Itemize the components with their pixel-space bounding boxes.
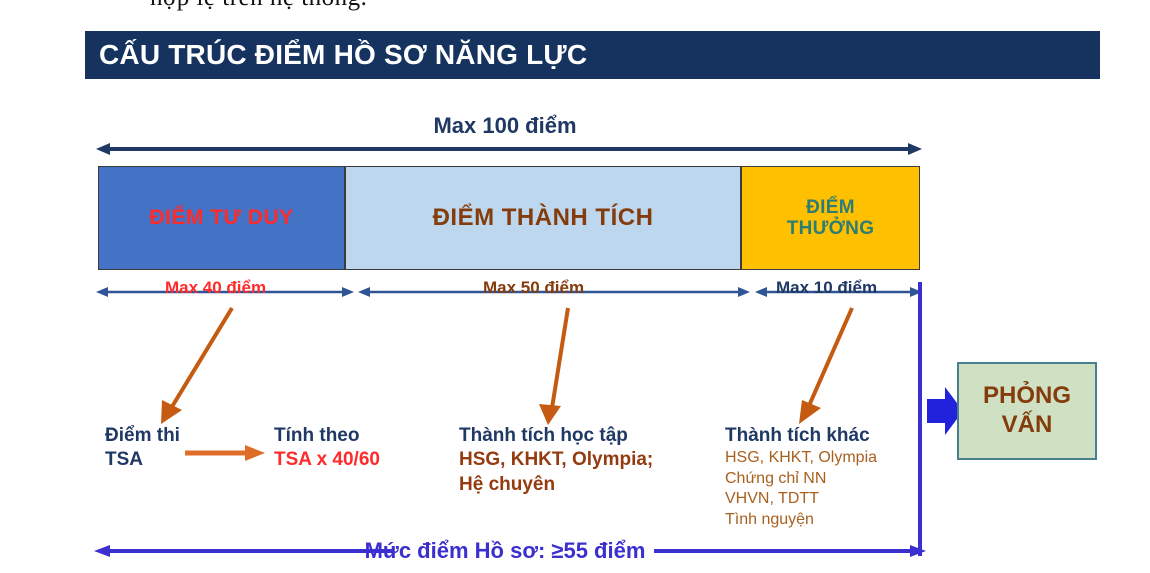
detail-block-other-line4: VHVN, TDTT (725, 489, 877, 509)
detail-block-formula: Tính theo TSA x 40/60 (274, 424, 380, 473)
detail-block-academic-line1: Thành tích học tập (459, 424, 653, 448)
connector-arrow-2-icon (520, 300, 630, 430)
detail-block-tsa-line2: TSA (105, 448, 180, 472)
score-structure-bar: ĐIỂM TƯ DUY ĐIỂM THÀNH TÍCH ĐIỂM THƯỞNG (98, 166, 920, 270)
detail-block-formula-line2: TSA x 40/60 (274, 448, 380, 472)
bar-segment-diem-thuong-label: ĐIỂM THƯỞNG (787, 197, 875, 240)
bar-segment-diem-thuong[interactable]: ĐIỂM THƯỞNG (741, 166, 920, 270)
detail-block-tsa-line1: Điểm thi (105, 424, 180, 448)
detail-block-formula-line1: Tính theo (274, 424, 380, 448)
bar-segment-diem-thuong-label-line1: ĐIỂM (806, 197, 855, 218)
bar-segment-tu-duy[interactable]: ĐIỂM TƯ DUY (98, 166, 345, 270)
slide-title-banner: CẤU TRÚC ĐIỂM HỒ SƠ NĂNG LỰC (85, 31, 1100, 79)
interview-box-label-line1: PHỎNG (983, 382, 1071, 409)
measure-label-thanh-tich: Max 50 điểm (483, 278, 584, 298)
detail-block-other: Thành tích khác HSG, KHKT, Olympia Chứng… (725, 424, 877, 530)
interview-box-label-line2: VẤN (1002, 411, 1053, 438)
detail-block-academic: Thành tích học tập HSG, KHKT, Olympia; H… (459, 424, 653, 497)
profile-threshold-arrow-icon (94, 543, 926, 559)
detail-block-academic-line3: Hệ chuyên (459, 473, 653, 497)
detail-block-other-line5: Tình nguyện (725, 510, 877, 530)
bar-segment-tu-duy-label: ĐIỂM TƯ DUY (149, 206, 293, 230)
formula-arrow-icon (185, 443, 265, 463)
detail-block-other-line2: HSG, KHKT, Olympia (725, 448, 877, 468)
connector-arrow-1-icon (140, 300, 270, 430)
bar-segment-thanh-tich-label: ĐIỂM THÀNH TÍCH (433, 205, 654, 232)
measure-label-tu-duy: Max 40 điểm (165, 278, 266, 298)
right-connector-line (918, 282, 922, 556)
detail-block-other-line3: Chứng chỉ NN (725, 469, 877, 489)
measure-label-diem-thuong: Max 10 điểm (776, 278, 877, 298)
page-title: CẤU TRÚC ĐIỂM HỒ SƠ NĂNG LỰC (85, 39, 587, 71)
connector-arrow-3-icon (780, 300, 890, 430)
detail-block-academic-line2: HSG, KHKT, Olympia; (459, 448, 653, 472)
interview-box-label: PHỎNG VẤN (983, 382, 1071, 440)
bar-segment-thanh-tich[interactable]: ĐIỂM THÀNH TÍCH (345, 166, 741, 270)
total-span-arrow-icon (96, 142, 922, 156)
interview-box[interactable]: PHỎNG VẤN (957, 362, 1097, 460)
detail-block-tsa: Điểm thi TSA (105, 424, 180, 473)
previous-slide-text-fragment: hợp lệ trên hệ thống. (150, 0, 367, 12)
total-max-label: Max 100 điểm (0, 113, 1010, 139)
bar-segment-diem-thuong-label-line2: THƯỞNG (787, 218, 875, 239)
detail-block-other-line1: Thành tích khác (725, 424, 877, 448)
